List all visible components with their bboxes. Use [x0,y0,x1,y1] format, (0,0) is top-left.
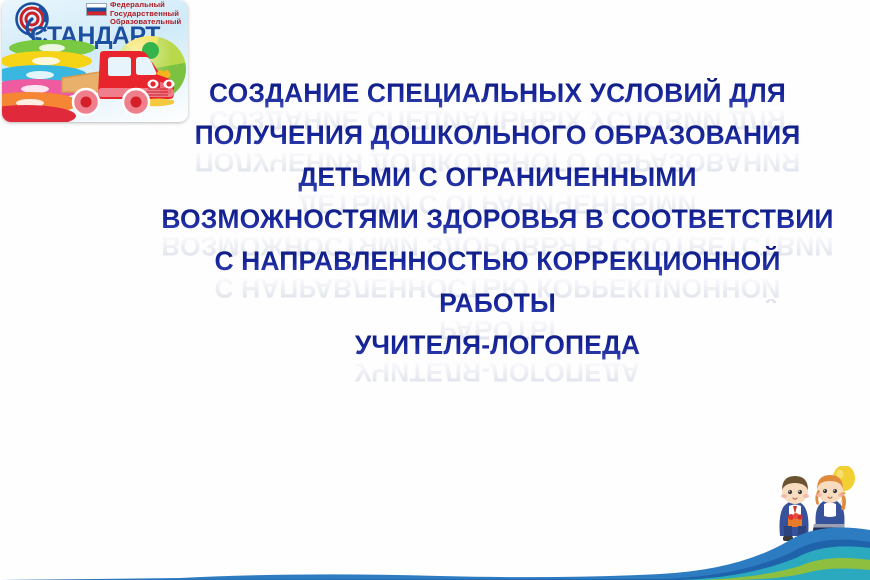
title-line-4-text: ВОЗМОЖНОСТЯМИ ЗДОРОВЬЯ В СООТВЕТСТВИИ [161,204,833,235]
title-line-5-text: С НАПРАВЛЕННОСТЬЮ КОРРЕКЦИОННОЙ [214,246,780,277]
russian-flag-icon [86,3,107,16]
title-line-7-text: УЧИТЕЛЯ-ЛОГОПЕДА [355,330,640,361]
title-line-3-text: ДЕТЬМИ С ОГРАНИЧЕННЫМИ [298,162,696,193]
title-line-7: УЧИТЕЛЯ-ЛОГОПЕДА УЧИТЕЛЯ-ЛОГОПЕДА [125,330,870,372]
title-line-3: ДЕТЬМИ С ОГРАНИЧЕННЫМИ ДЕТЬМИ С ОГРАНИЧЕ… [125,162,870,204]
presentation-slide: Федеральный Государственный Образователь… [0,0,870,580]
slide-title: СОЗДАНИЕ СПЕЦИАЛЬНЫХ УСЛОВИЙ ДЛЯ СОЗДАНИ… [125,78,870,372]
title-line-1-text: СОЗДАНИЕ СПЕЦИАЛЬНЫХ УСЛОВИЙ ДЛЯ [209,78,786,109]
title-line-6-text: РАБОТЫ [439,288,556,319]
bottom-wave-band [0,500,870,580]
title-line-1: СОЗДАНИЕ СПЕЦИАЛЬНЫХ УСЛОВИЙ ДЛЯ СОЗДАНИ… [125,78,870,120]
title-line-2-text: ПОЛУЧЕНИЯ ДОШКОЛЬНОГО ОБРАЗОВАНИЯ [195,120,801,151]
title-line-6: РАБОТЫ РАБОТЫ [125,288,870,330]
title-line-5: С НАПРАВЛЕННОСТЬЮ КОРРЕКЦИОННОЙ С НАПРАВ… [125,246,870,288]
title-line-4: ВОЗМОЖНОСТЯМИ ЗДОРОВЬЯ В СООТВЕТСТВИИ ВО… [125,204,870,246]
title-line-2: ПОЛУЧЕНИЯ ДОШКОЛЬНОГО ОБРАЗОВАНИЯ ПОЛУЧЕ… [125,120,870,162]
